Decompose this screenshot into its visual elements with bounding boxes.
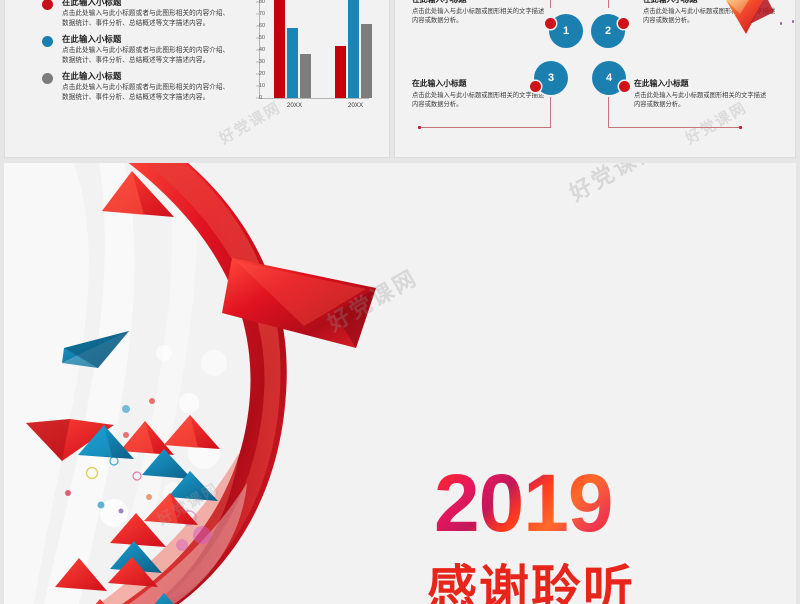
chart-x-tick-label: 20XX bbox=[348, 102, 363, 109]
circle-marker-3[interactable]: 3 bbox=[534, 61, 568, 95]
bullet-body: 点击此处输入与此小标题或者与此图形相关的内容介绍、数据统计、事件分析、总结概述等… bbox=[62, 46, 230, 65]
bullet-title: 在此输入小标题 bbox=[62, 33, 228, 46]
connector-line bbox=[608, 0, 609, 8]
bullet-body: 点击此处输入与此小标题或者与此图形相关的内容介绍、数据统计、事件分析、总结概述等… bbox=[62, 83, 230, 102]
accent-dot-icon bbox=[618, 18, 629, 29]
slide-border-left bbox=[4, 0, 5, 158]
circle-block-title: 在此输入小标题 bbox=[412, 78, 545, 90]
circle-marker-1[interactable]: 1 bbox=[549, 14, 583, 48]
accent-dot-icon bbox=[619, 81, 630, 92]
decorative-dot-icon bbox=[780, 22, 783, 25]
bullet-dot-icon bbox=[42, 36, 53, 47]
chart-y-tick-mark bbox=[256, 2, 259, 3]
circle-block-body: 点击此处输入与此小标题或图形相关的文字描述内容或数据分析。 bbox=[412, 91, 545, 110]
circle-block-body: 点击此处输入与此小标题或图形相关的文字描述内容或数据分析。 bbox=[634, 91, 767, 110]
chart-bar-group bbox=[335, 0, 372, 98]
chart-y-tick-label: 30 bbox=[259, 59, 263, 65]
circle-number: 4 bbox=[606, 72, 612, 84]
chart-x-axis bbox=[259, 98, 369, 99]
slide-thanks[interactable]: 2019 感谢聆听 选择谁是您的权利， 但请相信选择我才是正确而明智的选择！ 好… bbox=[4, 163, 796, 604]
bullet-dot-icon bbox=[42, 0, 53, 10]
bullet-title: 在此输入小标题 bbox=[62, 0, 228, 9]
connector-line bbox=[550, 0, 551, 8]
chart-bar bbox=[348, 0, 359, 98]
connector-line bbox=[420, 127, 551, 128]
slide-border-left bbox=[394, 0, 395, 158]
connector-line bbox=[608, 127, 740, 128]
circle-marker-4[interactable]: 4 bbox=[592, 61, 626, 95]
chart-bar bbox=[300, 54, 311, 98]
chart-bar bbox=[335, 46, 346, 98]
bar-chart: 9080706050403020100 20XX20XX bbox=[232, 0, 377, 129]
chart-y-tick-label: 20 bbox=[259, 71, 263, 77]
chart-y-tick-mark bbox=[256, 26, 259, 27]
bullet-body: 点击此处输入与此小标题或者与此图形相关的内容介绍、数据统计、事件分析、总结概述等… bbox=[62, 9, 230, 28]
chart-y-tick-label: 60 bbox=[259, 23, 263, 29]
bullet-dot-icon bbox=[42, 73, 53, 84]
circle-number: 1 bbox=[563, 25, 569, 37]
bullet-title: 在此输入小标题 bbox=[62, 70, 228, 83]
accent-dot-icon bbox=[530, 81, 541, 92]
slide-border-right bbox=[795, 0, 796, 158]
circle-block-title: 在此输入小标题 bbox=[412, 0, 545, 6]
chart-plot-area bbox=[260, 0, 366, 98]
thanks-heading: 感谢聆听 bbox=[427, 561, 635, 604]
circle-block-title: 在此输入小标题 bbox=[634, 78, 767, 90]
circle-number: 2 bbox=[605, 25, 611, 37]
chart-y-tick-mark bbox=[256, 14, 259, 15]
circle-block-1[interactable]: 在此输入小标题 点击此处输入与此小标题或图形相关的文字描述内容或数据分析。 bbox=[412, 0, 545, 26]
chart-y-tick-label: 50 bbox=[259, 35, 263, 41]
bullet-list: 在此输入小标题 点击此处输入与此小标题或者与此图形相关的内容介绍、数据统计、事件… bbox=[38, 0, 228, 108]
decorative-dot-icon bbox=[792, 20, 795, 23]
presentation-preview: 在此输入小标题 点击此处输入与此小标题或者与此图形相关的内容介绍、数据统计、事件… bbox=[0, 0, 800, 604]
chart-bar-group bbox=[274, 0, 311, 98]
watermark: 好党课网 bbox=[563, 163, 666, 208]
chart-bar bbox=[287, 28, 298, 98]
circle-block-4[interactable]: 在此输入小标题 点击此处输入与此小标题或图形相关的文字描述内容或数据分析。 bbox=[634, 78, 767, 110]
chart-y-tick-mark bbox=[256, 86, 259, 87]
chart-y-tick-mark bbox=[256, 62, 259, 63]
list-item[interactable]: 在此输入小标题 点击此处输入与此小标题或者与此图形相关的内容介绍、数据统计、事件… bbox=[38, 0, 228, 28]
list-item[interactable]: 在此输入小标题 点击此处输入与此小标题或者与此图形相关的内容介绍、数据统计、事件… bbox=[38, 33, 228, 65]
chart-y-tick-mark bbox=[256, 98, 259, 99]
slide-border-right bbox=[389, 0, 390, 158]
chart-y-tick-mark bbox=[256, 50, 259, 51]
circle-number: 3 bbox=[548, 72, 554, 84]
chart-y-tick-label: 40 bbox=[259, 47, 263, 53]
chart-x-tick-label: 20XX bbox=[287, 102, 302, 109]
circle-marker-2[interactable]: 2 bbox=[591, 14, 625, 48]
list-item[interactable]: 在此输入小标题 点击此处输入与此小标题或者与此图形相关的内容介绍、数据统计、事件… bbox=[38, 70, 228, 102]
slide-thumbnail-circles[interactable]: 在此输入小标题 点击此处输入与此小标题或图形相关的文字描述内容或数据分析。 1 … bbox=[394, 0, 796, 158]
chart-y-tick-mark bbox=[256, 38, 259, 39]
slide-thumbnail-chart[interactable]: 在此输入小标题 点击此处输入与此小标题或者与此图形相关的内容介绍、数据统计、事件… bbox=[4, 0, 390, 158]
decorative-arrow-icon bbox=[722, 0, 776, 42]
connector-line bbox=[550, 95, 551, 128]
connector-line bbox=[608, 95, 609, 128]
chart-y-tick-label: 10 bbox=[259, 83, 263, 89]
chart-y-tick-label: 80 bbox=[259, 0, 263, 5]
chart-bar bbox=[361, 24, 372, 98]
accent-dot-icon bbox=[545, 18, 556, 29]
chart-y-tick-mark bbox=[256, 74, 259, 75]
slide-border-bottom bbox=[4, 157, 390, 158]
circle-block-body: 点击此处输入与此小标题或图形相关的文字描述内容或数据分析。 bbox=[412, 7, 545, 26]
circle-block-3[interactable]: 在此输入小标题 点击此处输入与此小标题或图形相关的文字描述内容或数据分析。 bbox=[412, 78, 545, 110]
connector-endpoint bbox=[739, 126, 742, 129]
chart-y-tick-label: 70 bbox=[259, 11, 263, 17]
decorative-artwork bbox=[4, 163, 404, 604]
year-heading: 2019 bbox=[434, 463, 612, 545]
slide-border-bottom bbox=[394, 157, 796, 158]
chart-y-tick-label: 0 bbox=[259, 95, 263, 101]
connector-endpoint bbox=[418, 126, 421, 129]
chart-bar bbox=[274, 0, 285, 98]
